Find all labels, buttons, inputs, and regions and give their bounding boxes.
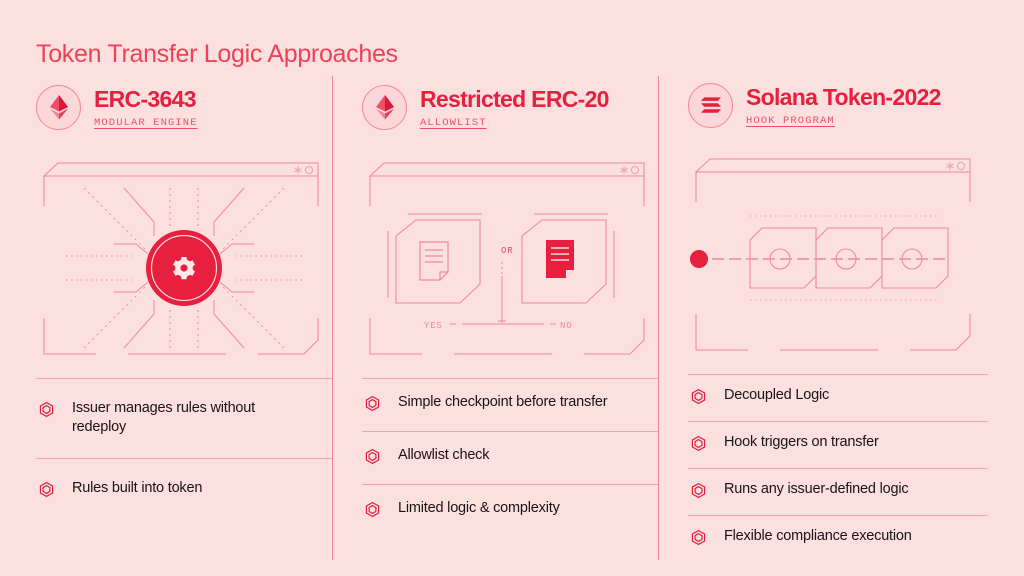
illustration-pipeline <box>688 154 988 358</box>
hexagon-bullet-icon <box>690 388 708 410</box>
column-header: Solana Token-2022 HOOK PROGRAM <box>688 76 988 134</box>
solana-icon-badge <box>688 83 733 128</box>
list-item: Issuer manages rules without redeploy <box>36 378 332 458</box>
ethereum-icon <box>375 94 395 120</box>
list-item: Allowlist check <box>362 431 658 484</box>
columns-container: ERC-3643 MODULAR ENGINE <box>36 76 988 562</box>
column-subtitle: ALLOWLIST <box>420 117 609 129</box>
illustration-branch-decision: OR YES NO <box>362 158 658 362</box>
feature-list: Simple checkpoint before transfer Allowl… <box>362 378 658 537</box>
page-title: Token Transfer Logic Approaches <box>36 40 398 69</box>
list-item-label: Rules built into token <box>72 479 202 498</box>
list-item-label: Issuer manages rules without redeploy <box>72 399 307 438</box>
list-item-label: Decoupled Logic <box>724 386 829 405</box>
list-item: Rules built into token <box>36 458 332 523</box>
branch-label-no: NO <box>560 321 572 331</box>
list-item: Decoupled Logic <box>688 374 988 421</box>
column-header-text: Restricted ERC-20 ALLOWLIST <box>420 86 609 129</box>
list-item-label: Limited logic & complexity <box>398 499 560 518</box>
column-header: Restricted ERC-20 ALLOWLIST <box>362 76 658 138</box>
column-title: Solana Token-2022 <box>746 84 941 111</box>
hexagon-bullet-icon <box>364 501 382 523</box>
ethereum-icon <box>49 94 69 120</box>
list-item-label: Hook triggers on transfer <box>724 433 879 452</box>
column-subtitle: HOOK PROGRAM <box>746 115 941 127</box>
branch-label-yes: YES <box>424 321 443 331</box>
column-header: ERC-3643 MODULAR ENGINE <box>36 76 332 138</box>
hexagon-bullet-icon <box>690 482 708 504</box>
column-subtitle: MODULAR ENGINE <box>94 117 198 129</box>
solana-icon <box>699 95 723 115</box>
operator-label: OR <box>501 246 513 256</box>
list-item-label: Runs any issuer-defined logic <box>724 480 908 499</box>
list-item: Hook triggers on transfer <box>688 421 988 468</box>
list-item-label: Simple checkpoint before transfer <box>398 393 607 412</box>
feature-list: Decoupled Logic Hook triggers on transfe… <box>688 374 988 562</box>
pipeline-node <box>816 228 882 288</box>
list-item-label: Flexible compliance execution <box>724 527 912 546</box>
ethereum-icon-badge <box>36 85 81 130</box>
hexagon-bullet-icon <box>364 395 382 417</box>
filled-dot-icon <box>690 250 708 268</box>
list-item: Runs any issuer-defined logic <box>688 468 988 515</box>
infographic-root: Token Transfer Logic Approaches ERC-3643… <box>0 0 1024 576</box>
hexagon-bullet-icon <box>364 448 382 470</box>
branch-card-left <box>388 214 482 303</box>
hexagon-bullet-icon <box>690 435 708 457</box>
column-restricted-erc-20: Restricted ERC-20 ALLOWLIST <box>332 76 658 562</box>
column-solana-token-2022: Solana Token-2022 HOOK PROGRAM <box>658 76 988 562</box>
ethereum-icon-badge <box>362 85 407 130</box>
column-erc-3643: ERC-3643 MODULAR ENGINE <box>36 76 332 562</box>
feature-list: Issuer manages rules without redeploy Ru… <box>36 378 332 523</box>
list-item: Simple checkpoint before transfer <box>362 378 658 431</box>
column-title: Restricted ERC-20 <box>420 86 609 113</box>
column-header-text: ERC-3643 MODULAR ENGINE <box>94 86 198 129</box>
hexagon-bullet-icon <box>690 529 708 551</box>
hexagon-bullet-icon <box>38 401 56 423</box>
window-chrome-icons <box>295 166 313 174</box>
list-item: Flexible compliance execution <box>688 515 988 562</box>
list-item: Limited logic & complexity <box>362 484 658 537</box>
window-chrome-icons <box>947 162 965 170</box>
column-header-text: Solana Token-2022 HOOK PROGRAM <box>746 84 941 127</box>
window-chrome-icons <box>621 166 639 174</box>
pipeline-node <box>750 228 816 288</box>
column-title: ERC-3643 <box>94 86 198 113</box>
illustration-hub-and-spoke <box>36 158 332 362</box>
list-item-label: Allowlist check <box>398 446 489 465</box>
pipeline-node <box>882 228 948 288</box>
document-filled-icon <box>546 240 574 278</box>
hexagon-bullet-icon <box>38 481 56 503</box>
document-outline-icon <box>420 242 448 280</box>
